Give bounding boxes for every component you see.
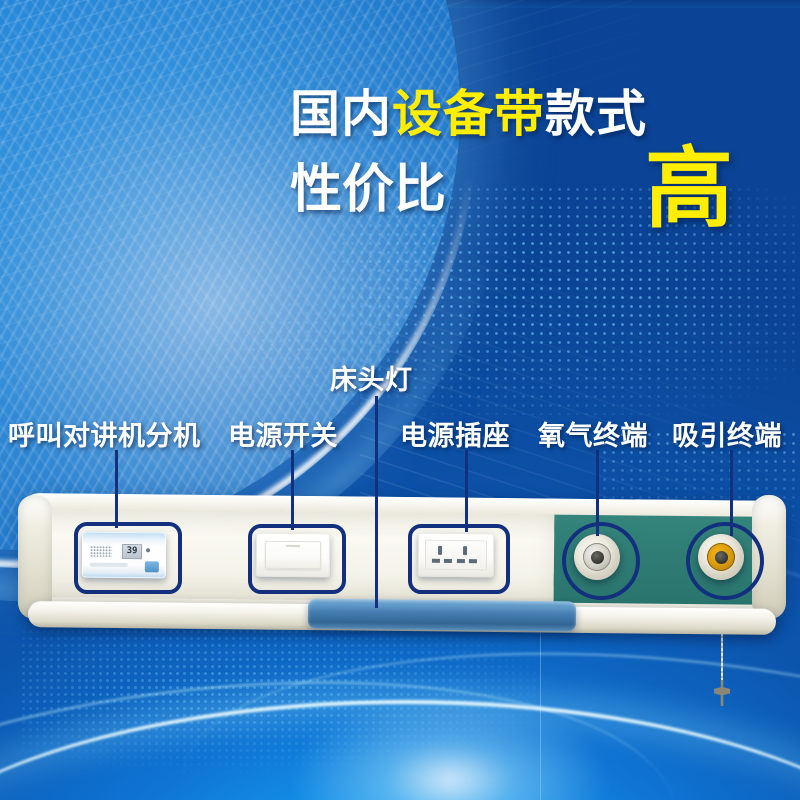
suction-terminal-device[interactable] — [698, 534, 744, 580]
rocker-indicator-mark — [286, 545, 300, 547]
callout-oxygen-terminal: 氧气终端 — [538, 414, 648, 453]
leader-line-bed-lamp — [375, 396, 378, 608]
product-promo-image: 国内设备带款式 性价比 高 呼叫对讲机分机 电源开关 床头灯 电源插座 氧气终端… — [0, 0, 800, 800]
halftone-dot-map-secondary — [150, 255, 400, 425]
callout-suction-terminal: 吸引终端 — [672, 414, 782, 453]
callout-bed-lamp: 床头灯 — [330, 358, 413, 397]
horizon-hotspot — [290, 690, 610, 800]
power-socket-device[interactable] — [418, 533, 494, 578]
nurse-call-intercom-device[interactable]: 39 — [82, 532, 166, 579]
status-led-icon — [146, 548, 150, 552]
callout-nurse-call-intercom: 呼叫对讲机分机 — [8, 414, 201, 453]
speaker-grille-icon — [90, 546, 112, 557]
oxygen-terminal-port — [591, 551, 604, 564]
power-switch-device[interactable] — [256, 533, 330, 578]
leader-line-intercom — [115, 450, 118, 528]
socket-slot-4 — [469, 559, 477, 563]
intercom-label-strip — [90, 563, 128, 567]
callout-power-socket: 电源插座 — [400, 414, 510, 453]
intercom-call-button[interactable] — [145, 561, 159, 572]
socket-slot-3 — [457, 559, 465, 563]
callout-power-switch: 电源开关 — [228, 414, 338, 453]
intercom-display: 39 — [122, 544, 142, 559]
oxygen-terminal-device[interactable] — [574, 534, 620, 580]
headline-block: 国内设备带款式 性价比 — [290, 88, 770, 217]
leader-line-socket — [465, 450, 468, 532]
suction-terminal-port — [715, 551, 728, 564]
socket-pin-left — [438, 546, 442, 555]
leader-line-oxygen — [596, 450, 599, 536]
headline-text-value-ratio: 性价比 — [290, 161, 446, 219]
headline-line-2: 性价比 — [290, 163, 770, 218]
headline-text-equipment-belt: 设备带 — [392, 86, 545, 142]
rocker-switch[interactable] — [265, 541, 321, 570]
headline-text-style: 款式 — [545, 86, 647, 142]
headline-text-domestic: 国内 — [290, 86, 392, 142]
headline-line-1: 国内设备带款式 — [290, 88, 770, 141]
socket-slot-1 — [432, 559, 440, 563]
suction-terminal-collar — [707, 543, 735, 571]
socket-pin-right — [463, 546, 467, 555]
socket-slot-2 — [444, 559, 452, 563]
rail-slider-bracket[interactable] — [308, 599, 576, 632]
leader-line-suction — [730, 450, 733, 536]
oxygen-terminal-collar — [583, 543, 611, 571]
leader-line-power-switch — [291, 450, 294, 530]
socket-faceplate — [425, 540, 487, 571]
panel-end-cap-right — [752, 495, 786, 619]
